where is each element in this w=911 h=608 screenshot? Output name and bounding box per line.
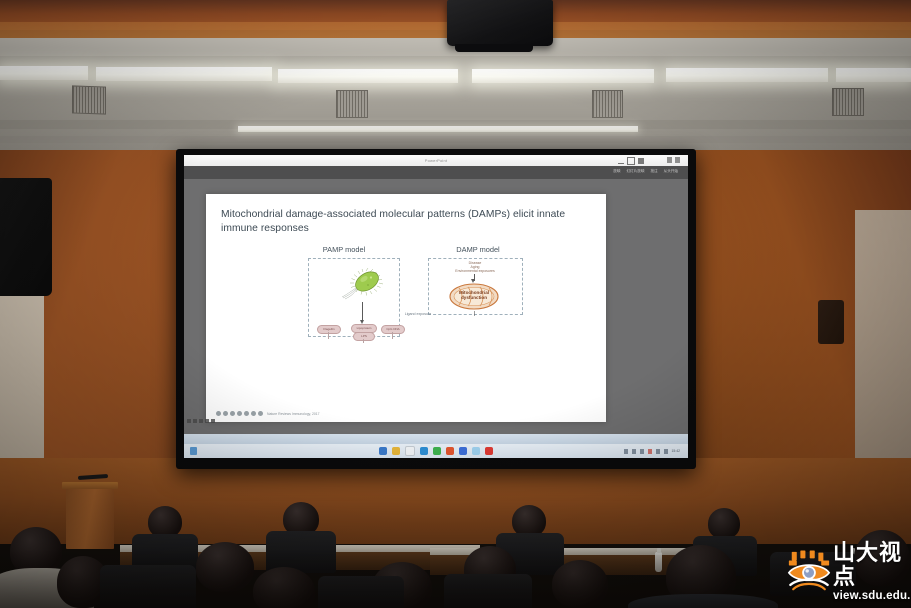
start-button[interactable] [190, 447, 197, 455]
wall-speaker-right [818, 300, 844, 344]
ceiling-light-strip [0, 66, 88, 80]
ceiling-vent [832, 88, 864, 116]
ceiling-light-strip [238, 126, 638, 132]
toolbar-item-1[interactable]: 幻灯片放映 [626, 169, 644, 174]
credit-icon [244, 411, 249, 416]
audience-chair [444, 574, 532, 608]
screen-content: PowerPoint 放映 幻灯片放映 批注 从头开始 [184, 155, 688, 458]
credit-icon [237, 411, 242, 416]
sdu-eye-gear-logo-icon [786, 549, 832, 595]
maximize-icon[interactable] [627, 157, 635, 165]
damp-cause-2: Environmental exposures [438, 269, 512, 273]
ceiling-vent [72, 85, 106, 114]
powerpoint-icon[interactable] [472, 447, 480, 455]
credit-text: Nature Reviews Immunology, 2017 [267, 412, 320, 416]
audience-head [708, 508, 740, 539]
shopping-icon[interactable] [485, 447, 493, 455]
lecture-hall-photo: PowerPoint 放映 幻灯片放映 批注 从头开始 [0, 0, 911, 608]
slide-credit: Nature Reviews Immunology, 2017 [216, 411, 320, 416]
minimize-icon[interactable] [618, 163, 624, 164]
pamp-pill-stem [328, 332, 329, 339]
toolbar-item-3[interactable]: 从头开始 [664, 169, 678, 174]
left-wall-plaster [0, 290, 44, 470]
pamp-model-label: PAMP model [284, 245, 404, 254]
damp-model-label: DAMP model [418, 245, 538, 254]
back-wall-lower [0, 458, 911, 544]
bacterium-icon [342, 268, 384, 300]
toolbar-item-2[interactable]: 批注 [650, 169, 657, 174]
pamp-pill-stem [363, 339, 364, 343]
desktop-tool-icons[interactable] [187, 419, 215, 423]
app-close-icon[interactable] [675, 157, 680, 163]
edge-icon[interactable] [420, 447, 428, 455]
ceiling-vent [592, 90, 623, 118]
toolbar-item-0[interactable]: 放映 [613, 169, 620, 174]
watermark-site-name: 山大视点 [833, 541, 911, 589]
volume-icon[interactable] [664, 449, 668, 454]
file-explorer-icon[interactable] [379, 447, 387, 455]
credit-icon [258, 411, 263, 416]
restore-icon[interactable] [667, 157, 672, 163]
audience-head [196, 542, 254, 592]
display-screen: PowerPoint 放映 幻灯片放映 批注 从头开始 [176, 149, 696, 469]
watermark: 山大视点 view.sdu.edu.cn [786, 543, 906, 601]
browser-icon[interactable] [459, 447, 467, 455]
pamp-pill-2: LPS [353, 332, 375, 341]
window-controls[interactable] [618, 157, 644, 165]
audience-head [552, 560, 608, 608]
audience-head [253, 567, 315, 608]
pen-icon[interactable] [211, 419, 215, 423]
tray-icon[interactable] [624, 449, 628, 454]
credit-icon [223, 411, 228, 416]
ceiling-light-strip [666, 68, 828, 82]
network-icon[interactable] [656, 449, 660, 454]
tray-alert-icon[interactable] [648, 449, 652, 454]
system-tray[interactable]: 15:42 [624, 449, 681, 454]
window-body: Mitochondrial damage-associated molecula… [184, 179, 688, 434]
credit-icon [216, 411, 221, 416]
credit-icon [230, 411, 235, 416]
window-title: PowerPoint [425, 158, 447, 163]
audience-chair [100, 565, 196, 608]
watermark-url: view.sdu.edu.cn [833, 590, 911, 603]
store-icon[interactable] [405, 446, 415, 456]
ceiling-light-strip [472, 69, 654, 83]
damp-lower-arrow [474, 311, 475, 316]
clock[interactable]: 15:42 [672, 449, 681, 453]
folder-icon[interactable] [392, 447, 400, 455]
window-toolbar[interactable]: 放映 幻灯片放映 批注 从头开始 [184, 166, 688, 179]
ceiling-light-strip [96, 67, 272, 81]
credit-icon [251, 411, 256, 416]
desktop-icon[interactable] [199, 419, 203, 423]
media-icon[interactable] [446, 447, 454, 455]
window-extra-controls[interactable] [667, 157, 680, 163]
audience-shoulders [628, 594, 778, 608]
ceiling-light-strip [836, 68, 911, 82]
desktop-icon[interactable] [187, 419, 191, 423]
taskbar[interactable]: 15:42 [184, 444, 688, 458]
tray-icon[interactable] [632, 449, 636, 454]
close-icon[interactable] [638, 158, 644, 164]
window-titlebar: PowerPoint [184, 155, 688, 166]
slide-title: Mitochondrial damage-associated molecula… [221, 208, 576, 236]
pamp-pill-3: CpG DNA [381, 325, 405, 334]
desktop-icon[interactable] [193, 419, 197, 423]
pamp-pill-stem [392, 332, 393, 339]
ceiling-light-strip [278, 69, 458, 83]
right-wall-plaster [855, 210, 911, 470]
damp-causes: Disease Aging Environmental exposures [438, 261, 512, 273]
podium [66, 487, 114, 549]
presentation-slide: Mitochondrial damage-associated molecula… [206, 194, 606, 422]
ligand-exposure-note: Ligand exposure [400, 312, 436, 316]
watermark-text: 山大视点 view.sdu.edu.cn [833, 541, 911, 603]
wechat-icon[interactable] [433, 447, 441, 455]
taskbar-apps[interactable] [379, 446, 493, 456]
audience-chair [318, 576, 404, 608]
toolbar-actions[interactable]: 放映 幻灯片放映 批注 从头开始 [613, 169, 678, 174]
desktop-strip [184, 434, 688, 444]
pamp-arrow-line [362, 302, 363, 322]
ceiling-vent [336, 90, 368, 118]
desktop-icon[interactable] [205, 419, 209, 423]
tray-icon[interactable] [640, 449, 644, 454]
wall-speaker-left [0, 178, 52, 296]
mitochondrion-icon [449, 283, 499, 310]
projector [447, 0, 553, 46]
ceiling-seam [0, 136, 911, 143]
water-bottle [655, 552, 662, 572]
pamp-pill-0: Flagellin [317, 325, 341, 334]
podium-top [62, 482, 118, 489]
